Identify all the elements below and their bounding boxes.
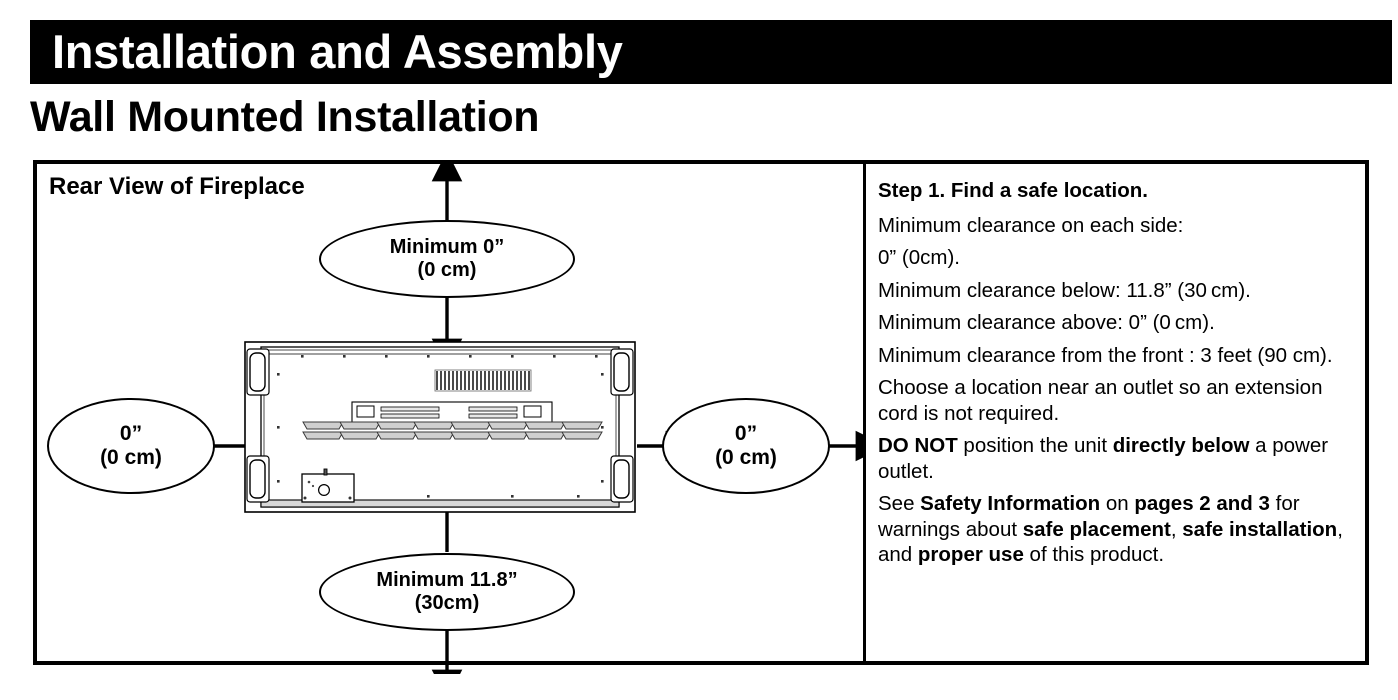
callout-left-line2: (0 cm)	[100, 446, 162, 470]
content-panel: Rear View of Fireplace	[33, 160, 1369, 665]
control-panel-band	[352, 402, 552, 424]
manual-page: Installation and Assembly Wall Mounted I…	[0, 0, 1398, 700]
instruction-line: Choose a location near an outlet so an e…	[878, 375, 1357, 426]
callout-right-line1: 0”	[735, 422, 757, 446]
cable-knockout	[319, 485, 330, 496]
step-heading: Step 1. Find a safe location.	[878, 178, 1357, 204]
do-not-emphasis: DO NOT	[878, 434, 958, 457]
mounting-bracket-slot	[614, 460, 629, 498]
junction-box	[302, 469, 354, 502]
instruction-line: Minimum clearance below: 11.8” (30 cm).	[878, 278, 1357, 304]
callout-right: 0” (0 cm)	[662, 398, 830, 494]
section-title: Installation and Assembly	[52, 22, 623, 82]
page-title: Wall Mounted Installation	[30, 89, 539, 145]
do-not-warning: DO NOT position the unit directly below …	[878, 433, 1357, 484]
mounting-bracket-slot	[250, 353, 265, 391]
instruction-line: Minimum clearance from the front : 3 fee…	[878, 343, 1357, 369]
instruction-line: Minimum clearance on each side:	[878, 213, 1357, 239]
mounting-bracket-slot	[614, 353, 629, 391]
instruction-line: Minimum clearance above: 0” (0 cm).	[878, 310, 1357, 336]
terminal-block-right	[524, 406, 541, 417]
callout-bottom: Minimum 11.8” (30cm)	[319, 553, 575, 631]
callout-top: Minimum 0” (0 cm)	[319, 220, 575, 298]
instruction-line: 0” (0cm).	[878, 245, 1357, 271]
callout-left-line1: 0”	[120, 422, 142, 446]
mounting-bracket-slot	[250, 460, 265, 498]
callout-top-line2: (0 cm)	[418, 259, 477, 282]
fireplace-rear-chassis	[245, 342, 635, 529]
panel-divider	[863, 164, 866, 661]
callout-bottom-line2: (30cm)	[415, 592, 479, 615]
instructions-panel: Step 1. Find a safe location. Minimum cl…	[870, 172, 1365, 657]
safety-reference: See Safety Information on pages 2 and 3 …	[878, 491, 1357, 568]
clearance-diagram: Rear View of Fireplace	[37, 164, 863, 661]
callout-top-line1: Minimum 0”	[390, 236, 504, 259]
terminal-block-left	[357, 406, 374, 417]
callout-right-line2: (0 cm)	[715, 446, 777, 470]
junction-box-tab	[324, 469, 327, 475]
section-title-bar: Installation and Assembly	[30, 20, 1392, 84]
callout-bottom-line1: Minimum 11.8”	[376, 569, 517, 592]
callout-left: 0” (0 cm)	[47, 398, 215, 494]
